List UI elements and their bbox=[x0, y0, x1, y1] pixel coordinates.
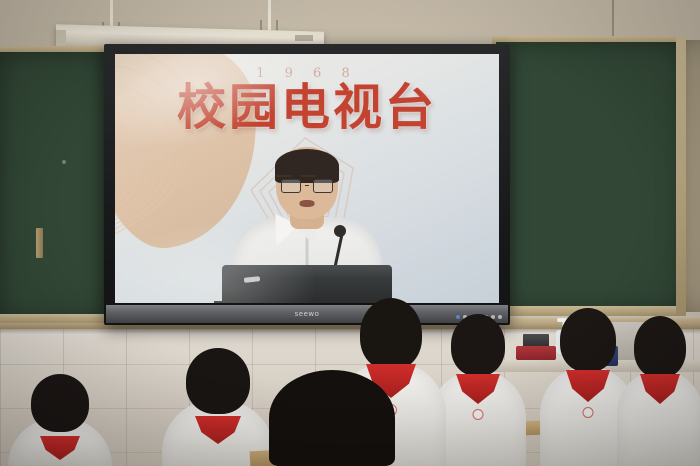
student-1 bbox=[268, 382, 396, 466]
board-marker-dot bbox=[62, 160, 66, 164]
right-chalkboard bbox=[496, 42, 682, 310]
right-chalkboard-frame-edge bbox=[676, 36, 686, 316]
student-2-head bbox=[360, 298, 422, 370]
student-6 bbox=[166, 342, 270, 466]
speaker-mouth bbox=[300, 200, 315, 207]
slide-main-title: 校园电视台 bbox=[115, 82, 499, 134]
laptop-brand-logo bbox=[244, 276, 260, 283]
speaker-eyebrow-left bbox=[276, 175, 292, 178]
student-5 bbox=[620, 300, 700, 466]
panel-brand-label: seewo bbox=[295, 310, 320, 318]
on-screen-speaker bbox=[212, 153, 402, 303]
student-6-head bbox=[186, 348, 250, 414]
glasses-lens-right bbox=[313, 179, 333, 193]
classroom-scene: 1 9 6 8 校园电视台 bbox=[0, 0, 700, 466]
interactive-flat-panel[interactable]: 1 9 6 8 校园电视台 bbox=[104, 44, 510, 325]
speaker-eyebrow-right bbox=[300, 175, 316, 178]
chalk-tray-left bbox=[36, 228, 43, 258]
microphone-head-icon bbox=[334, 225, 346, 237]
student-4-head bbox=[560, 308, 616, 372]
presentation-slide: 1 9 6 8 校园电视台 bbox=[115, 54, 499, 303]
glasses-bridge bbox=[305, 185, 310, 187]
student-1-head bbox=[269, 370, 395, 466]
student-4-uniform-badge bbox=[583, 407, 594, 418]
student-3-uniform-badge bbox=[473, 409, 484, 420]
student-7 bbox=[12, 378, 108, 466]
student-5-head bbox=[634, 316, 686, 378]
glasses-icon bbox=[281, 178, 333, 193]
glasses-lens-left bbox=[281, 179, 301, 193]
left-chalkboard bbox=[0, 52, 108, 318]
left-chalkboard-frame-bottom bbox=[0, 314, 112, 323]
student-3-head bbox=[451, 314, 505, 376]
lamp-brand-badge bbox=[295, 35, 313, 41]
student-7-head bbox=[31, 374, 89, 432]
